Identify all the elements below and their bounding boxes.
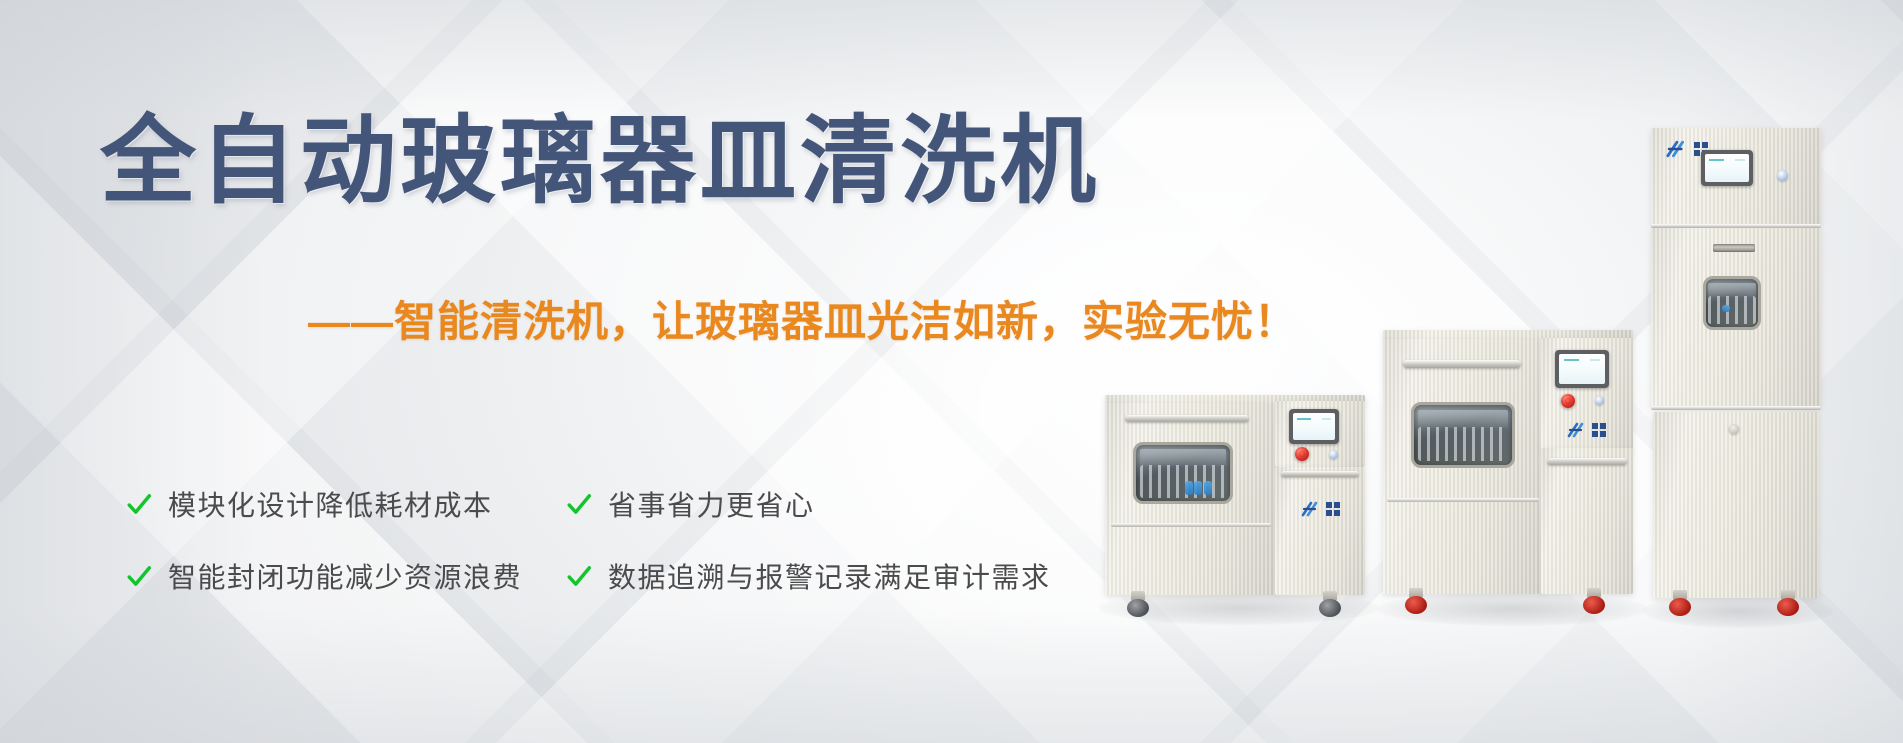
viewing-window [1703, 276, 1761, 330]
status-indicator-light [1777, 170, 1788, 181]
feature-item: 模块化设计降低耗材成本 [126, 484, 566, 524]
touchscreen-display[interactable] [1289, 409, 1339, 444]
door-latch[interactable] [1729, 424, 1739, 434]
service-door-handle [1281, 471, 1359, 477]
product-undercounter-glassware-washer [1105, 395, 1365, 620]
service-door-handle [1547, 458, 1627, 465]
product-freestanding-glassware-washer [1383, 330, 1633, 620]
service-door [1653, 412, 1819, 598]
window-upper-rack [1708, 283, 1756, 297]
window-upper-rack [1418, 410, 1508, 428]
banner-headline: 全自动玻璃器皿清洗机 [100, 112, 1100, 213]
touchscreen-display[interactable] [1555, 350, 1609, 388]
caster-wheel [1583, 588, 1605, 614]
feature-label: 数据追溯与报警记录满足审计需求 [608, 556, 1051, 596]
window-blue-nozzle [1204, 481, 1212, 496]
vent-slot [1713, 244, 1755, 252]
window-blue-nozzle [1722, 305, 1730, 312]
product-images [1095, 0, 1903, 743]
window-blue-nozzle [1185, 481, 1193, 496]
touchscreen-ui [1705, 154, 1749, 182]
window-glassware-rack [1418, 427, 1508, 462]
banner-text-content: 全自动玻璃器皿清洗机 ——智能清洗机，让玻璃器皿光洁如新，实验无忧！ 模块化设计… [0, 0, 1160, 743]
caster-wheel [1405, 588, 1427, 614]
window-glassware-rack [1708, 296, 1756, 324]
check-icon [126, 563, 152, 589]
product-tall-cabinet-glassware-washer [1651, 128, 1821, 623]
panel-seam [1651, 406, 1821, 410]
window-glassware-rack [1140, 465, 1226, 497]
caster-wheel [1127, 591, 1149, 617]
check-icon [566, 491, 592, 517]
brand-mark-icon [1567, 422, 1589, 438]
brand-wordmark [1592, 423, 1606, 437]
emergency-stop-button[interactable] [1561, 394, 1575, 408]
service-door [1541, 448, 1633, 594]
panel-seam [1111, 523, 1271, 527]
caster-wheel [1669, 590, 1691, 616]
caster-wheel [1319, 591, 1341, 617]
panel-seam [1387, 498, 1539, 502]
door-handle [1403, 360, 1521, 368]
viewing-window [1133, 442, 1233, 504]
status-indicator-light [1595, 396, 1604, 405]
status-indicator-light [1329, 450, 1338, 459]
service-door [1275, 467, 1365, 595]
feature-item: 智能封闭功能减少资源浪费 [126, 556, 566, 596]
door-handle [1125, 415, 1249, 422]
check-icon [566, 563, 592, 589]
brand-wordmark [1326, 502, 1340, 516]
caster-wheel [1777, 590, 1799, 616]
feature-list: 模块化设计降低耗材成本 省事省力更省心 智能封闭功能减少资源浪费 数据追溯与报警… [126, 468, 1126, 612]
viewing-window [1411, 402, 1515, 468]
brand-logo [1301, 501, 1340, 517]
touchscreen-ui [1559, 354, 1605, 384]
brand-mark-icon [1301, 501, 1323, 517]
feature-item: 省事省力更省心 [566, 484, 1126, 524]
window-blue-nozzle [1194, 481, 1202, 496]
feature-item: 数据追溯与报警记录满足审计需求 [566, 556, 1126, 596]
emergency-stop-button[interactable] [1295, 447, 1309, 461]
feature-label: 省事省力更省心 [608, 484, 815, 524]
check-icon [126, 491, 152, 517]
touchscreen-ui [1293, 413, 1335, 440]
window-upper-rack [1140, 449, 1226, 466]
brand-logo [1567, 422, 1606, 438]
feature-label: 智能封闭功能减少资源浪费 [168, 556, 522, 596]
feature-label: 模块化设计降低耗材成本 [168, 484, 493, 524]
touchscreen-display[interactable] [1701, 150, 1753, 186]
brand-mark-icon [1665, 140, 1691, 158]
product-banner: 全自动玻璃器皿清洗机 ——智能清洗机，让玻璃器皿光洁如新，实验无忧！ 模块化设计… [0, 0, 1903, 743]
